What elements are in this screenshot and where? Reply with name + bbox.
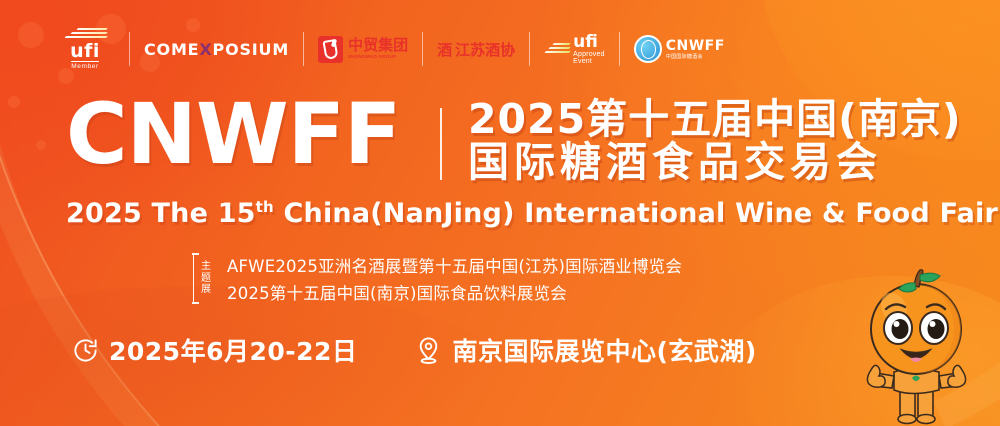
jiangsu-seal-icon: 酒 xyxy=(437,39,452,60)
chinese-title-line2: 国际糖酒食品交易会 xyxy=(468,141,962,184)
comexposium-x-mark: X xyxy=(199,40,212,59)
theme-expo-badge-char: 题 xyxy=(201,273,211,285)
ufi-approved-wing-icon xyxy=(544,43,570,56)
theme-expo-badge: 主 题 展 xyxy=(193,253,218,304)
ufi-approved-line2: Event xyxy=(573,58,605,65)
exhibition-banner: ufi Member COMEXPOSIUM 中贸集团 ZHONGMAO GRO… xyxy=(0,0,1000,426)
zhongmao-logo-cn: 中贸集团 xyxy=(348,38,408,53)
ufi-approved-event-logo: ufi Approved Event xyxy=(544,26,605,72)
comexposium-logo-text: COMEXPOSIUM xyxy=(144,40,289,59)
ufi-logo-subtext: Member xyxy=(71,61,98,70)
sub-expo-block: 主 题 展 AFWE2025亚洲名酒展暨第十五届中国(江苏)国际酒业博览会 20… xyxy=(193,253,682,304)
cnwff-text-block: CNWFF 中国国际糖酒会 xyxy=(666,39,725,60)
partner-logo-strip: ufi Member COMEXPOSIUM 中贸集团 ZHONGMAO GRO… xyxy=(55,26,725,72)
event-date-text: 2025年6月20-22日 xyxy=(109,332,357,368)
orange-mascot xyxy=(842,266,982,426)
clock-icon xyxy=(72,337,99,364)
jiangsu-liquor-association-logo: 酒 江苏酒协 xyxy=(437,26,515,72)
event-date-block: 2025年6月20-22日 xyxy=(72,332,357,368)
bokeh-dot xyxy=(18,22,44,48)
ufi-approved-text-block: ufi Approved Event xyxy=(573,34,605,65)
logo-divider xyxy=(422,32,423,66)
english-title-part1: 2025 The 15 xyxy=(66,198,256,229)
theme-expo-badge-char: 主 xyxy=(201,261,211,273)
chinese-title: 2025第十五届中国(南京) 国际糖酒食品交易会 xyxy=(468,98,962,185)
sub-expo-item: AFWE2025亚洲名酒展暨第十五届中国(江苏)国际酒业博览会 xyxy=(227,253,682,277)
logo-divider xyxy=(303,32,304,66)
event-info-row: 2025年6月20-22日 南京国际展览中心(玄武湖) xyxy=(72,332,757,368)
map-pin-icon xyxy=(415,336,442,365)
english-title-ordinal: th xyxy=(256,198,274,216)
bokeh-dot xyxy=(36,140,46,150)
english-title-part2: China(NanJing) International Wine & Food… xyxy=(274,198,998,229)
comexposium-logo: COMEXPOSIUM xyxy=(144,26,289,72)
event-location-block: 南京国际展览中心(玄武湖) xyxy=(415,332,756,368)
zhongmao-mark-icon xyxy=(318,36,343,63)
ufi-wing-icon xyxy=(63,28,107,41)
event-location-text: 南京国际展览中心(玄武湖) xyxy=(452,332,756,368)
sub-expo-list: AFWE2025亚洲名酒展暨第十五届中国(江苏)国际酒业博览会 2025第十五届… xyxy=(227,253,682,304)
chinese-title-line1: 2025第十五届中国(南京) xyxy=(468,98,962,141)
zhongmao-group-logo: 中贸集团 ZHONGMAO GROUP xyxy=(318,26,408,72)
sub-expo-item: 2025第十五届中国(南京)国际食品饮料展览会 xyxy=(227,280,682,304)
ufi-logo-text: ufi xyxy=(70,42,100,60)
zhongmao-logo-en: ZHONGMAO GROUP xyxy=(348,55,408,60)
ufi-member-logo: ufi Member xyxy=(55,26,115,72)
jiangsu-logo-cn: 江苏酒协 xyxy=(455,39,515,60)
bokeh-dot xyxy=(8,96,20,108)
logo-divider xyxy=(529,32,530,66)
title-divider xyxy=(440,108,442,180)
theme-expo-badge-char: 展 xyxy=(201,284,211,296)
logo-divider xyxy=(619,32,620,66)
ufi-approved-logo-text: ufi xyxy=(573,34,605,51)
cnwff-logo-subtext: 中国国际糖酒会 xyxy=(666,55,725,60)
logo-divider xyxy=(129,32,130,66)
english-title: 2025 The 15th China(NanJing) Internation… xyxy=(66,198,998,229)
brand-abbreviation: CNWFF xyxy=(66,92,400,176)
globe-icon xyxy=(634,35,662,63)
zhongmao-text-block: 中贸集团 ZHONGMAO GROUP xyxy=(348,38,408,59)
cnwff-logo: CNWFF 中国国际糖酒会 xyxy=(634,26,725,72)
ufi-approved-line1: Approved xyxy=(573,51,605,58)
cnwff-logo-text: CNWFF xyxy=(666,39,725,53)
